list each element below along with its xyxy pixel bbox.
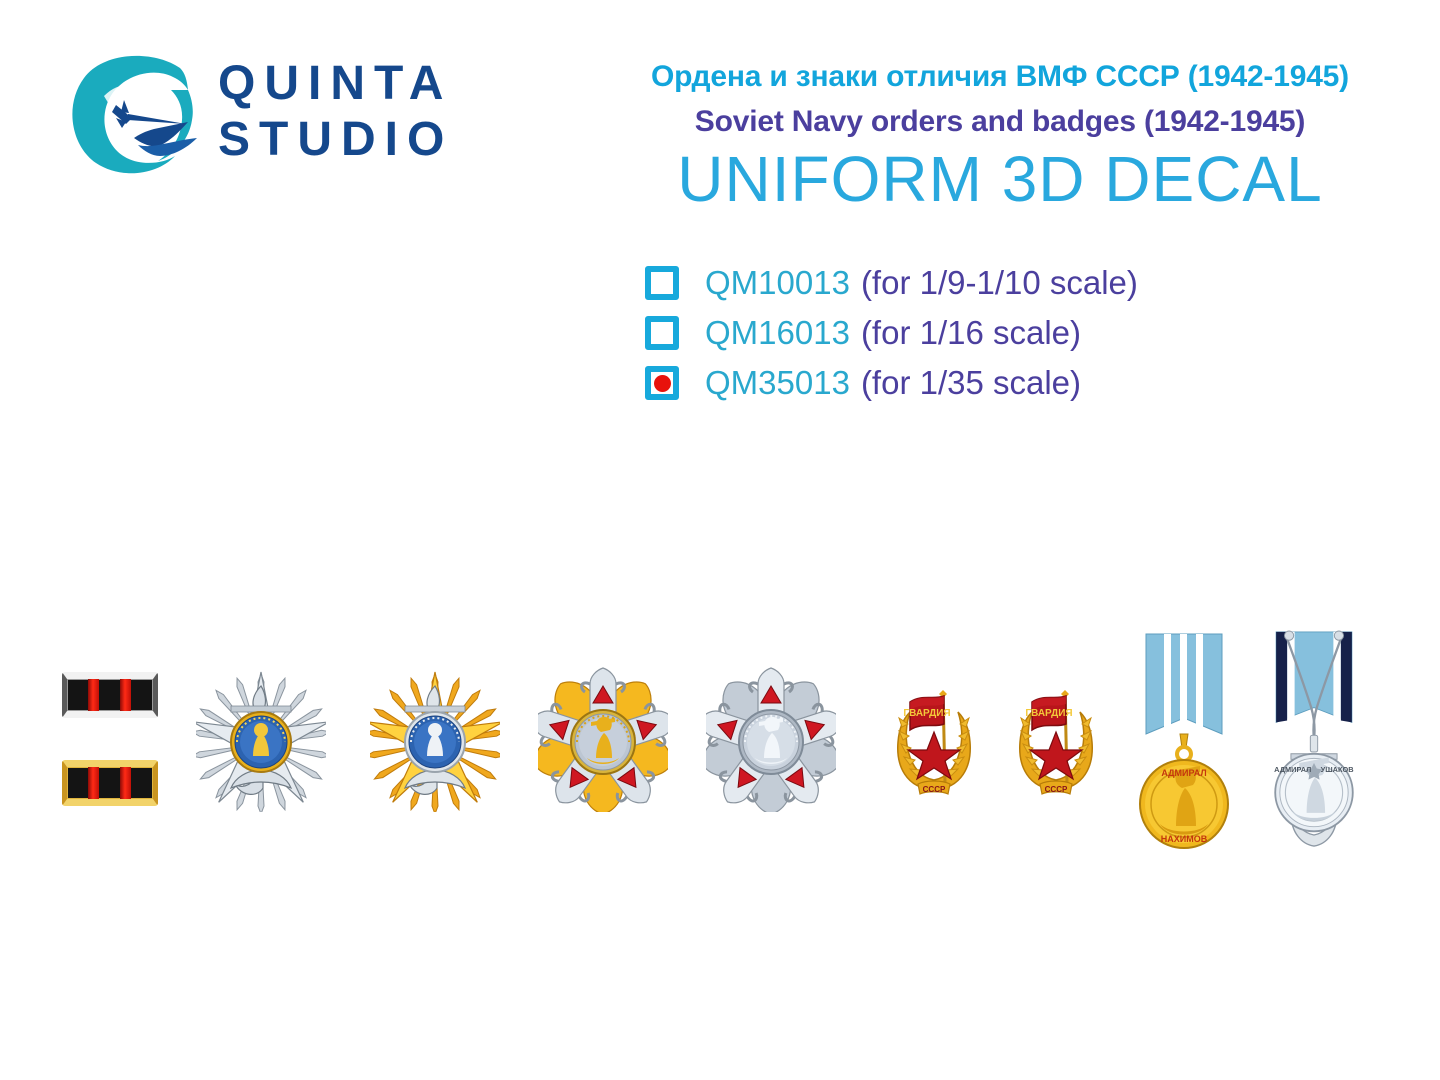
brand-name-line-1: QUINTA bbox=[218, 56, 538, 112]
brand-wordmark: QUINTA STUDIO bbox=[218, 56, 538, 168]
ribbon-bar-icon bbox=[62, 672, 158, 718]
svg-text:НАХИМОВ: НАХИМОВ bbox=[1161, 834, 1208, 844]
variant-row-qm10013[interactable]: QM10013 (for 1/9-1/10 scale) bbox=[645, 258, 1138, 308]
variant-row-qm35013[interactable]: QM35013 (for 1/35 scale) bbox=[645, 358, 1138, 408]
title-english: Soviet Navy orders and badges (1942-1945… bbox=[600, 102, 1400, 142]
variant-scale-qm35013: (for 1/35 scale) bbox=[861, 366, 1081, 400]
decal-preview-strip: ГВАРДИЯ СССР bbox=[0, 600, 1440, 930]
svg-text:СССР: СССР bbox=[1045, 785, 1068, 794]
order-cross-icon bbox=[706, 662, 836, 812]
decal-guards-badge-1: ГВАРДИЯ СССР bbox=[888, 680, 980, 808]
variant-list: QM10013 (for 1/9-1/10 scale) QM16013 (fo… bbox=[645, 258, 1138, 408]
checkbox-qm16013[interactable] bbox=[645, 316, 679, 350]
guards-badge-icon: ГВАРДИЯ СССР bbox=[888, 680, 980, 808]
order-cross-icon bbox=[538, 662, 668, 812]
checkbox-qm35013[interactable] bbox=[645, 366, 679, 400]
ribbon-stripes bbox=[74, 679, 146, 711]
checkbox-dot bbox=[654, 375, 671, 392]
hanging-medal-icon: АДМИРАЛ НАХИМОВ bbox=[1124, 626, 1244, 876]
checkbox-qm10013[interactable] bbox=[645, 266, 679, 300]
svg-text:ГВАРДИЯ: ГВАРДИЯ bbox=[1025, 708, 1072, 719]
ribbon-stripe bbox=[120, 767, 131, 799]
order-star-icon bbox=[370, 662, 500, 812]
hanging-medal-anchor-icon: АДМИРАЛ УШАКОВ bbox=[1254, 614, 1374, 864]
decal-ribbon-bar-silver-frame bbox=[62, 672, 158, 718]
sheet-page: QUINTA STUDIO Ордена и знаки отличия ВМФ… bbox=[0, 0, 1440, 1080]
title-russian: Ордена и знаки отличия ВМФ СССР (1942-19… bbox=[600, 58, 1400, 96]
decal-medal-of-nakhimov: АДМИРАЛ НАХИМОВ bbox=[1124, 626, 1244, 876]
variant-code-qm10013: QM10013 bbox=[705, 266, 850, 300]
decal-guards-badge-2: ГВАРДИЯ СССР bbox=[1010, 680, 1102, 808]
ribbon-stripe bbox=[88, 679, 99, 711]
variant-code-qm35013: QM35013 bbox=[705, 366, 850, 400]
svg-text:ГВАРДИЯ: ГВАРДИЯ bbox=[903, 708, 950, 719]
decal-ribbon-bar-gold-frame bbox=[62, 760, 158, 806]
variant-row-qm16013[interactable]: QM16013 (for 1/16 scale) bbox=[645, 308, 1138, 358]
brand-name-line-2: STUDIO bbox=[218, 112, 538, 168]
decal-order-of-nakhimov-2nd-class bbox=[706, 662, 836, 812]
ribbon-stripes bbox=[74, 767, 146, 799]
product-type-heading: UNIFORM 3D DECAL bbox=[600, 144, 1400, 214]
ribbon-stripe bbox=[88, 767, 99, 799]
variant-code-qm16013: QM16013 bbox=[705, 316, 850, 350]
ribbon-stripe bbox=[120, 679, 131, 711]
guards-badge-icon: ГВАРДИЯ СССР bbox=[1010, 680, 1102, 808]
decal-order-of-ushakov-1st-class bbox=[196, 662, 326, 812]
quinta-swoosh-jet-logo-icon bbox=[68, 52, 200, 178]
brand-logo: QUINTA STUDIO bbox=[68, 52, 528, 182]
variant-scale-qm16013: (for 1/16 scale) bbox=[861, 316, 1081, 350]
decal-order-of-ushakov-2nd-class bbox=[370, 662, 500, 812]
svg-text:АДМИРАЛ: АДМИРАЛ bbox=[1274, 765, 1311, 774]
header-titles: Ордена и знаки отличия ВМФ СССР (1942-19… bbox=[600, 58, 1400, 214]
order-star-icon bbox=[196, 662, 326, 812]
svg-text:УШАКОВ: УШАКОВ bbox=[1321, 765, 1354, 774]
svg-text:СССР: СССР bbox=[923, 785, 946, 794]
variant-scale-qm10013: (for 1/9-1/10 scale) bbox=[861, 266, 1138, 300]
decal-medal-of-ushakov: АДМИРАЛ УШАКОВ bbox=[1254, 614, 1374, 864]
ribbon-bar-icon bbox=[62, 760, 158, 806]
svg-text:АДМИРАЛ: АДМИРАЛ bbox=[1161, 768, 1206, 778]
decal-order-of-nakhimov-1st-class bbox=[538, 662, 668, 812]
